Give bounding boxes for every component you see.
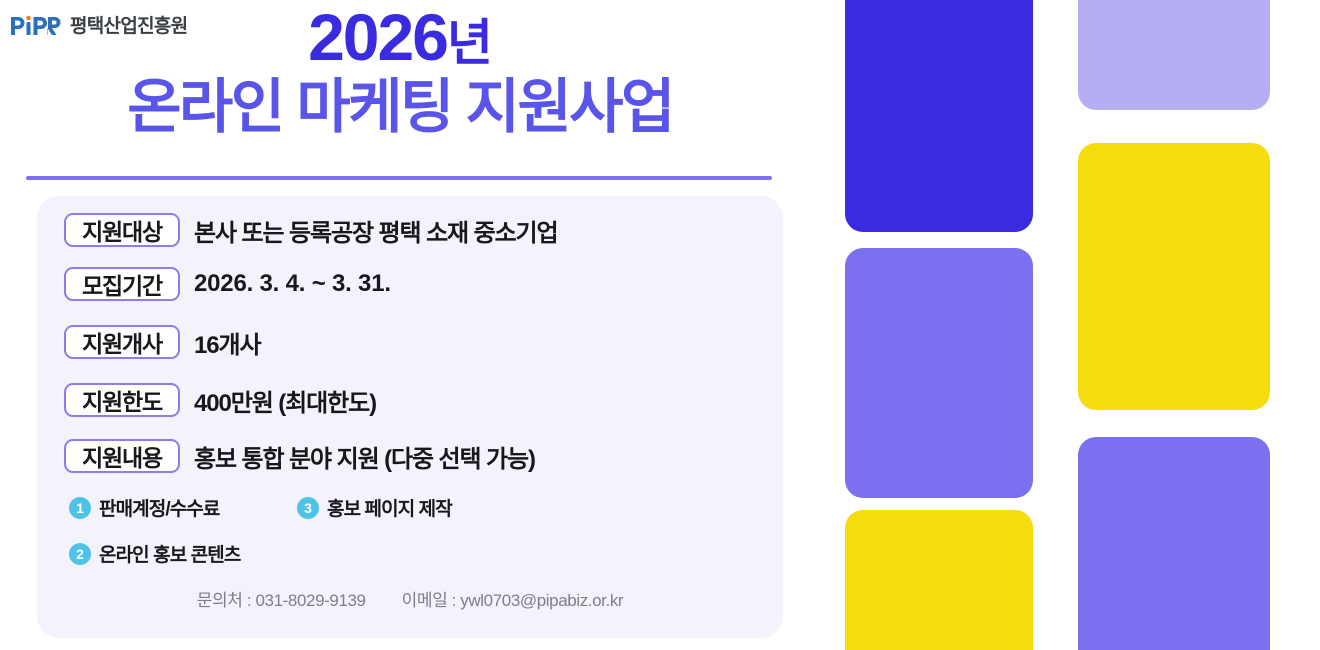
- deco-block-indigo-top-left: [845, 0, 1033, 232]
- info-value-period: 2026. 3. 4. ~ 3. 31.: [194, 270, 391, 298]
- contact-footer: 문의처 : 031-8029-9139 이메일 : ywl0703@pipabi…: [37, 586, 783, 611]
- bullet-label-1: 판매계정/수수료: [99, 494, 219, 521]
- list-item: 2 온라인 홍보 콘텐츠: [69, 540, 240, 567]
- info-row-company-count: 지원개사 16개사: [64, 324, 260, 360]
- info-value-target: 본사 또는 등록공장 평택 소재 중소기업: [194, 213, 558, 248]
- info-value-company-count: 16개사: [194, 325, 260, 360]
- info-label-support-content: 지원내용: [64, 439, 180, 473]
- info-row-period: 모집기간 2026. 3. 4. ~ 3. 31.: [64, 266, 391, 302]
- info-row-support-content: 지원내용 홍보 통합 분야 지원 (다중 선택 가능): [64, 438, 535, 474]
- contact-email: 이메일 : ywl0703@pipabiz.or.kr: [402, 586, 624, 611]
- deco-block-periwinkle-bottom-right: [1078, 437, 1270, 650]
- page-title-year: 2026년: [0, 0, 800, 73]
- headline-block: 2026년 온라인 마케팅 지원사업: [0, 0, 800, 140]
- program-info-card: 지원대상 본사 또는 등록공장 평택 소재 중소기업 모집기간 2026. 3.…: [37, 196, 783, 638]
- bullet-label-2: 온라인 홍보 콘텐츠: [99, 540, 240, 567]
- bullet-label-3: 홍보 페이지 제작: [327, 494, 452, 521]
- deco-block-yellow-mid-right: [1078, 143, 1270, 410]
- info-row-funding-limit: 지원한도 400만원 (최대한도): [64, 382, 376, 418]
- bullet-number-badge-1: 1: [69, 497, 91, 519]
- deco-block-yellow-bottom-left: [845, 510, 1033, 650]
- bullet-number-badge-2: 2: [69, 543, 91, 565]
- info-label-funding-limit: 지원한도: [64, 383, 180, 417]
- page-title-subtitle: 온라인 마케팅 지원사업: [0, 75, 800, 140]
- info-label-target: 지원대상: [64, 213, 180, 247]
- title-year-suffix: 년: [447, 15, 492, 71]
- info-label-period: 모집기간: [64, 267, 180, 301]
- deco-block-lavender-top-right: [1078, 0, 1270, 110]
- title-year-number: 2026: [308, 0, 447, 74]
- info-row-target: 지원대상 본사 또는 등록공장 평택 소재 중소기업: [64, 212, 558, 248]
- bullet-number-badge-3: 3: [297, 497, 319, 519]
- info-value-support-content: 홍보 통합 분야 지원 (다중 선택 가능): [194, 439, 535, 474]
- headline-divider: [26, 176, 772, 180]
- info-value-funding-limit: 400만원 (최대한도): [194, 383, 376, 418]
- list-item: 1 판매계정/수수료: [69, 494, 219, 521]
- left-content-panel: 평택산업진흥원 2026년 온라인 마케팅 지원사업 지원대상 본사 또는 등록…: [0, 0, 810, 650]
- deco-block-periwinkle-mid-left: [845, 248, 1033, 498]
- info-label-company-count: 지원개사: [64, 325, 180, 359]
- poster-root: 평택산업진흥원 2026년 온라인 마케팅 지원사업 지원대상 본사 또는 등록…: [0, 0, 1320, 650]
- list-item: 3 홍보 페이지 제작: [297, 494, 452, 521]
- contact-phone: 문의처 : 031-8029-9139: [197, 586, 366, 611]
